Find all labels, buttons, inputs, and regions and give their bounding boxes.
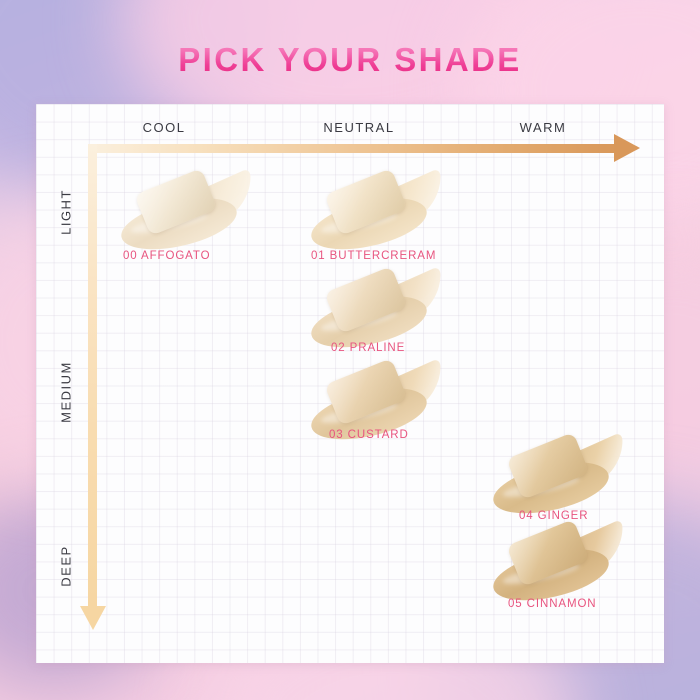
depth-label-light: LIGHT [59, 189, 74, 235]
undertone-label-cool: COOL [143, 120, 186, 135]
shade-swatch-affogato[interactable] [118, 176, 250, 250]
undertone-label-neutral: NEUTRAL [323, 120, 394, 135]
shade-label-ginger: 04 GINGER [519, 510, 588, 522]
depth-axis-arrow [88, 144, 97, 610]
shade-label-praline: 02 PRALINE [331, 342, 405, 354]
shade-label-affogato: 00 AFFOGATO [123, 250, 210, 262]
shade-swatch-ginger[interactable] [490, 440, 622, 514]
shade-label-custard: 03 CUSTARD [329, 429, 409, 441]
shade-swatch-cinnamon[interactable] [490, 527, 622, 601]
arrow-down-icon [80, 606, 106, 630]
shade-label-buttercreram: 01 BUTTERCRERAM [311, 250, 436, 262]
arrow-right-icon [614, 134, 640, 162]
page-title: PICK YOUR SHADE [0, 40, 700, 80]
depth-label-medium: MEDIUM [59, 361, 74, 423]
shade-swatch-buttercreram[interactable] [308, 176, 440, 250]
undertone-label-warm: WARM [520, 120, 567, 135]
shade-chart-graphic: PICK YOUR SHADE COOLNEUTRALWARM LIGHTMED… [0, 0, 700, 700]
depth-label-deep: DEEP [59, 545, 74, 586]
shade-swatch-praline[interactable] [308, 274, 440, 348]
undertone-axis-arrow [88, 144, 618, 153]
shade-label-cinnamon: 05 CINNAMON [508, 598, 597, 610]
